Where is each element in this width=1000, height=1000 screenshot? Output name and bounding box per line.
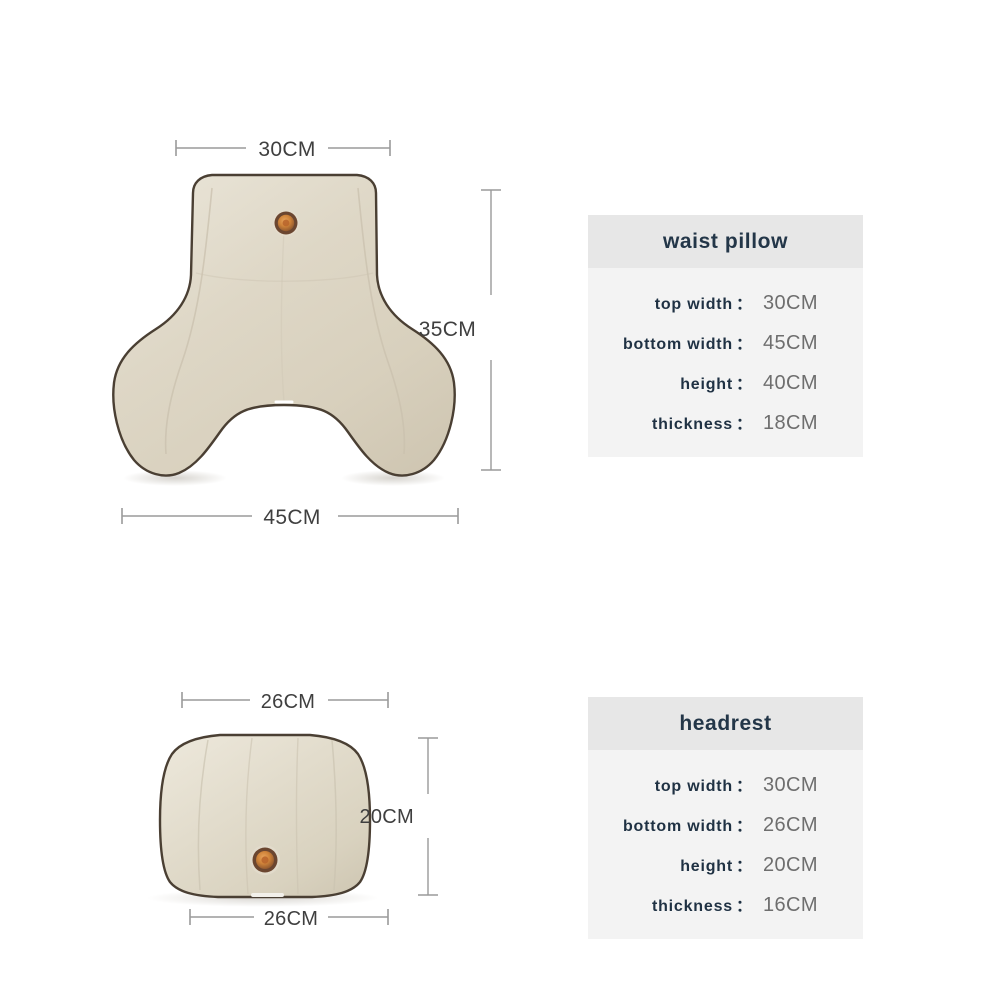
headrest-top-width-dimension: 26CM bbox=[182, 691, 388, 713]
waist-pillow-spec-body: top width ： 30CM bottom width ： 45CM hei… bbox=[588, 268, 863, 445]
waist-pillow-spec-title: waist pillow bbox=[663, 230, 788, 254]
spec-key: top width bbox=[655, 296, 733, 314]
spec-key: height bbox=[680, 858, 733, 876]
spec-row: bottom width ： 45CM bbox=[598, 330, 849, 355]
spec-value: 45CM bbox=[754, 332, 849, 355]
headrest-top-width-label: 26CM bbox=[261, 691, 316, 713]
spec-colon: ： bbox=[733, 290, 754, 314]
waist-pillow-figure: 30CM 35CM 45CM bbox=[60, 110, 560, 550]
spec-value: 16CM bbox=[754, 894, 849, 917]
headrest-button bbox=[250, 845, 280, 875]
spec-colon: ： bbox=[733, 772, 754, 796]
spec-key: bottom width bbox=[623, 336, 733, 354]
headrest-spec-panel: headrest top width ： 30CM bottom width ：… bbox=[588, 697, 863, 939]
headrest-spec-body: top width ： 30CM bottom width ： 26CM hei… bbox=[588, 750, 863, 927]
spec-row: thickness ： 18CM bbox=[598, 410, 849, 435]
spec-key: height bbox=[680, 376, 733, 394]
waist-bottom-width-dimension: 45CM bbox=[122, 506, 458, 529]
spec-value: 30CM bbox=[754, 774, 849, 797]
headrest-bottom-width-label: 26CM bbox=[264, 908, 319, 930]
spec-key: thickness bbox=[652, 898, 733, 916]
waist-top-width-dimension: 30CM bbox=[176, 138, 390, 161]
spec-key: thickness bbox=[652, 416, 733, 434]
spec-value: 18CM bbox=[754, 412, 849, 435]
spec-value: 40CM bbox=[754, 372, 849, 395]
headrest-height-label: 20CM bbox=[359, 806, 414, 828]
spec-colon: ： bbox=[733, 410, 754, 434]
spec-value: 26CM bbox=[754, 814, 849, 837]
headrest-bottom-width-dimension: 26CM bbox=[190, 908, 388, 930]
spec-row: thickness ： 16CM bbox=[598, 892, 849, 917]
headrest-spec-title: headrest bbox=[679, 712, 771, 736]
waist-top-width-label: 30CM bbox=[258, 138, 315, 161]
spec-colon: ： bbox=[733, 330, 754, 354]
spec-colon: ： bbox=[733, 852, 754, 876]
product-spec-sheet: 30CM 35CM 45CM bbox=[0, 0, 1000, 1000]
spec-value: 20CM bbox=[754, 854, 849, 877]
headrest-figure: 26CM 20CM 26CM bbox=[60, 680, 560, 960]
spec-row: height ： 40CM bbox=[598, 370, 849, 395]
spec-colon: ： bbox=[733, 892, 754, 916]
waist-height-label: 35CM bbox=[419, 318, 476, 341]
spec-colon: ： bbox=[733, 812, 754, 836]
spec-row: height ： 20CM bbox=[598, 852, 849, 877]
waist-bottom-width-label: 45CM bbox=[263, 506, 320, 529]
headrest-height-dimension: 20CM bbox=[359, 738, 438, 895]
spec-row: bottom width ： 26CM bbox=[598, 812, 849, 837]
spec-colon: ： bbox=[733, 370, 754, 394]
spec-value: 30CM bbox=[754, 292, 849, 315]
spec-key: top width bbox=[655, 778, 733, 796]
spec-row: top width ： 30CM bbox=[598, 290, 849, 315]
waist-pillow-button bbox=[273, 210, 300, 237]
spec-key: bottom width bbox=[623, 818, 733, 836]
headrest-spec-header: headrest bbox=[588, 697, 863, 750]
spec-row: top width ： 30CM bbox=[598, 772, 849, 797]
waist-pillow-spec-header: waist pillow bbox=[588, 215, 863, 268]
waist-pillow-spec-panel: waist pillow top width ： 30CM bottom wid… bbox=[588, 215, 863, 457]
